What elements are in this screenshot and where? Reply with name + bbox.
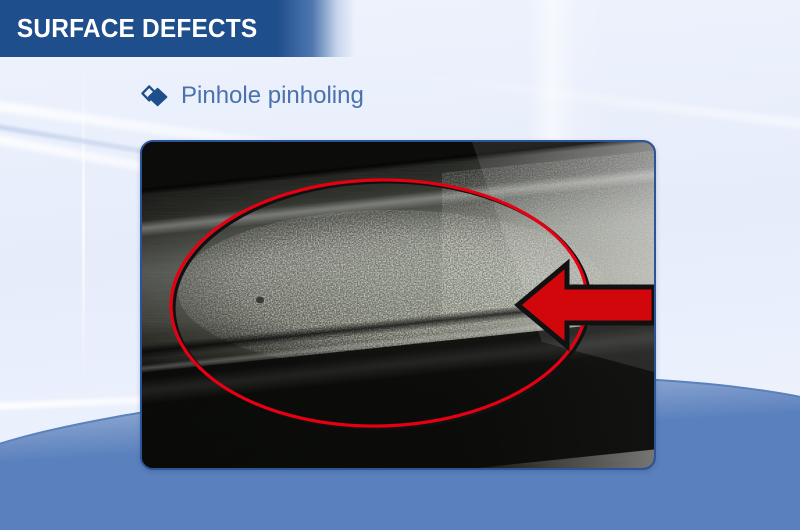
header-banner: SURFACE DEFECTS: [0, 0, 355, 57]
defect-photo: [142, 142, 654, 468]
page-title: SURFACE DEFECTS: [0, 13, 257, 44]
background-light-column-secondary: [82, 57, 85, 387]
defect-caption-label: Pinhole pinholing: [181, 84, 364, 108]
defect-caption: Pinhole pinholing: [140, 84, 364, 108]
defect-photo-card[interactable]: [140, 140, 656, 470]
slide-canvas: SURFACE DEFECTS Pinhole pinholing: [0, 0, 800, 530]
double-diamond-icon: [140, 84, 170, 108]
